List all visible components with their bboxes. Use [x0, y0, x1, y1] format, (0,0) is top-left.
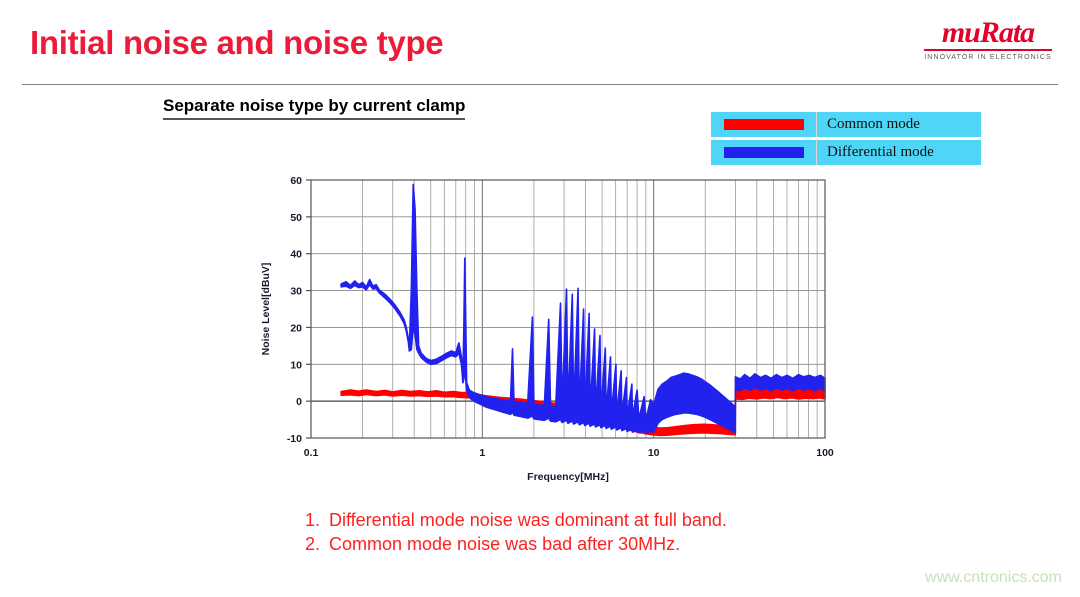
chart-svg: -1001020304050600.1110100Frequency[MHz]N… [255, 168, 855, 488]
slide: Initial noise and noise type muRata INNO… [0, 0, 1080, 597]
logo-underline [924, 49, 1052, 51]
svg-text:60: 60 [290, 175, 302, 187]
list-item-number: 1. [305, 508, 329, 532]
list-item: 1.Differential mode noise was dominant a… [305, 508, 727, 532]
svg-text:20: 20 [290, 322, 302, 334]
svg-text:10: 10 [290, 359, 302, 371]
legend-swatch-common-mode [724, 119, 804, 130]
svg-text:Noise Level[dBuV]: Noise Level[dBuV] [260, 263, 272, 356]
murata-logo: muRata INNOVATOR IN ELECTRONICS [918, 18, 1058, 61]
logo-wordmark: muRata [918, 18, 1058, 48]
legend-swatch-cell [711, 112, 817, 137]
noise-spectrum-chart: -1001020304050600.1110100Frequency[MHz]N… [255, 168, 855, 488]
legend-item-differential-mode: Differential mode [711, 140, 981, 165]
site-watermark: www.cntronics.com [925, 569, 1062, 587]
logo-tagline: INNOVATOR IN ELECTRONICS [918, 54, 1058, 61]
list-item-text: Differential mode noise was dominant at … [329, 510, 727, 530]
legend-label-differential-mode: Differential mode [817, 144, 934, 161]
svg-text:40: 40 [290, 249, 302, 261]
svg-text:-10: -10 [287, 433, 302, 445]
list-item-number: 2. [305, 532, 329, 556]
title-divider [22, 84, 1058, 85]
conclusion-list: 1.Differential mode noise was dominant a… [305, 508, 727, 556]
list-item-text: Common mode noise was bad after 30MHz. [329, 534, 680, 554]
svg-text:10: 10 [648, 447, 660, 459]
svg-text:30: 30 [290, 286, 302, 298]
svg-text:1: 1 [479, 447, 485, 459]
legend-swatch-differential-mode [724, 147, 804, 158]
page-title: Initial noise and noise type [30, 24, 443, 62]
svg-text:100: 100 [816, 447, 834, 459]
svg-text:Frequency[MHz]: Frequency[MHz] [527, 471, 609, 483]
svg-text:0: 0 [296, 396, 302, 408]
list-item: 2.Common mode noise was bad after 30MHz. [305, 532, 727, 556]
svg-text:0.1: 0.1 [304, 447, 319, 459]
section-subtitle: Separate noise type by current clamp [163, 96, 465, 120]
chart-legend: Common mode Differential mode [711, 112, 981, 168]
legend-swatch-cell [711, 140, 817, 165]
svg-text:50: 50 [290, 212, 302, 224]
legend-label-common-mode: Common mode [817, 116, 920, 133]
legend-item-common-mode: Common mode [711, 112, 981, 137]
